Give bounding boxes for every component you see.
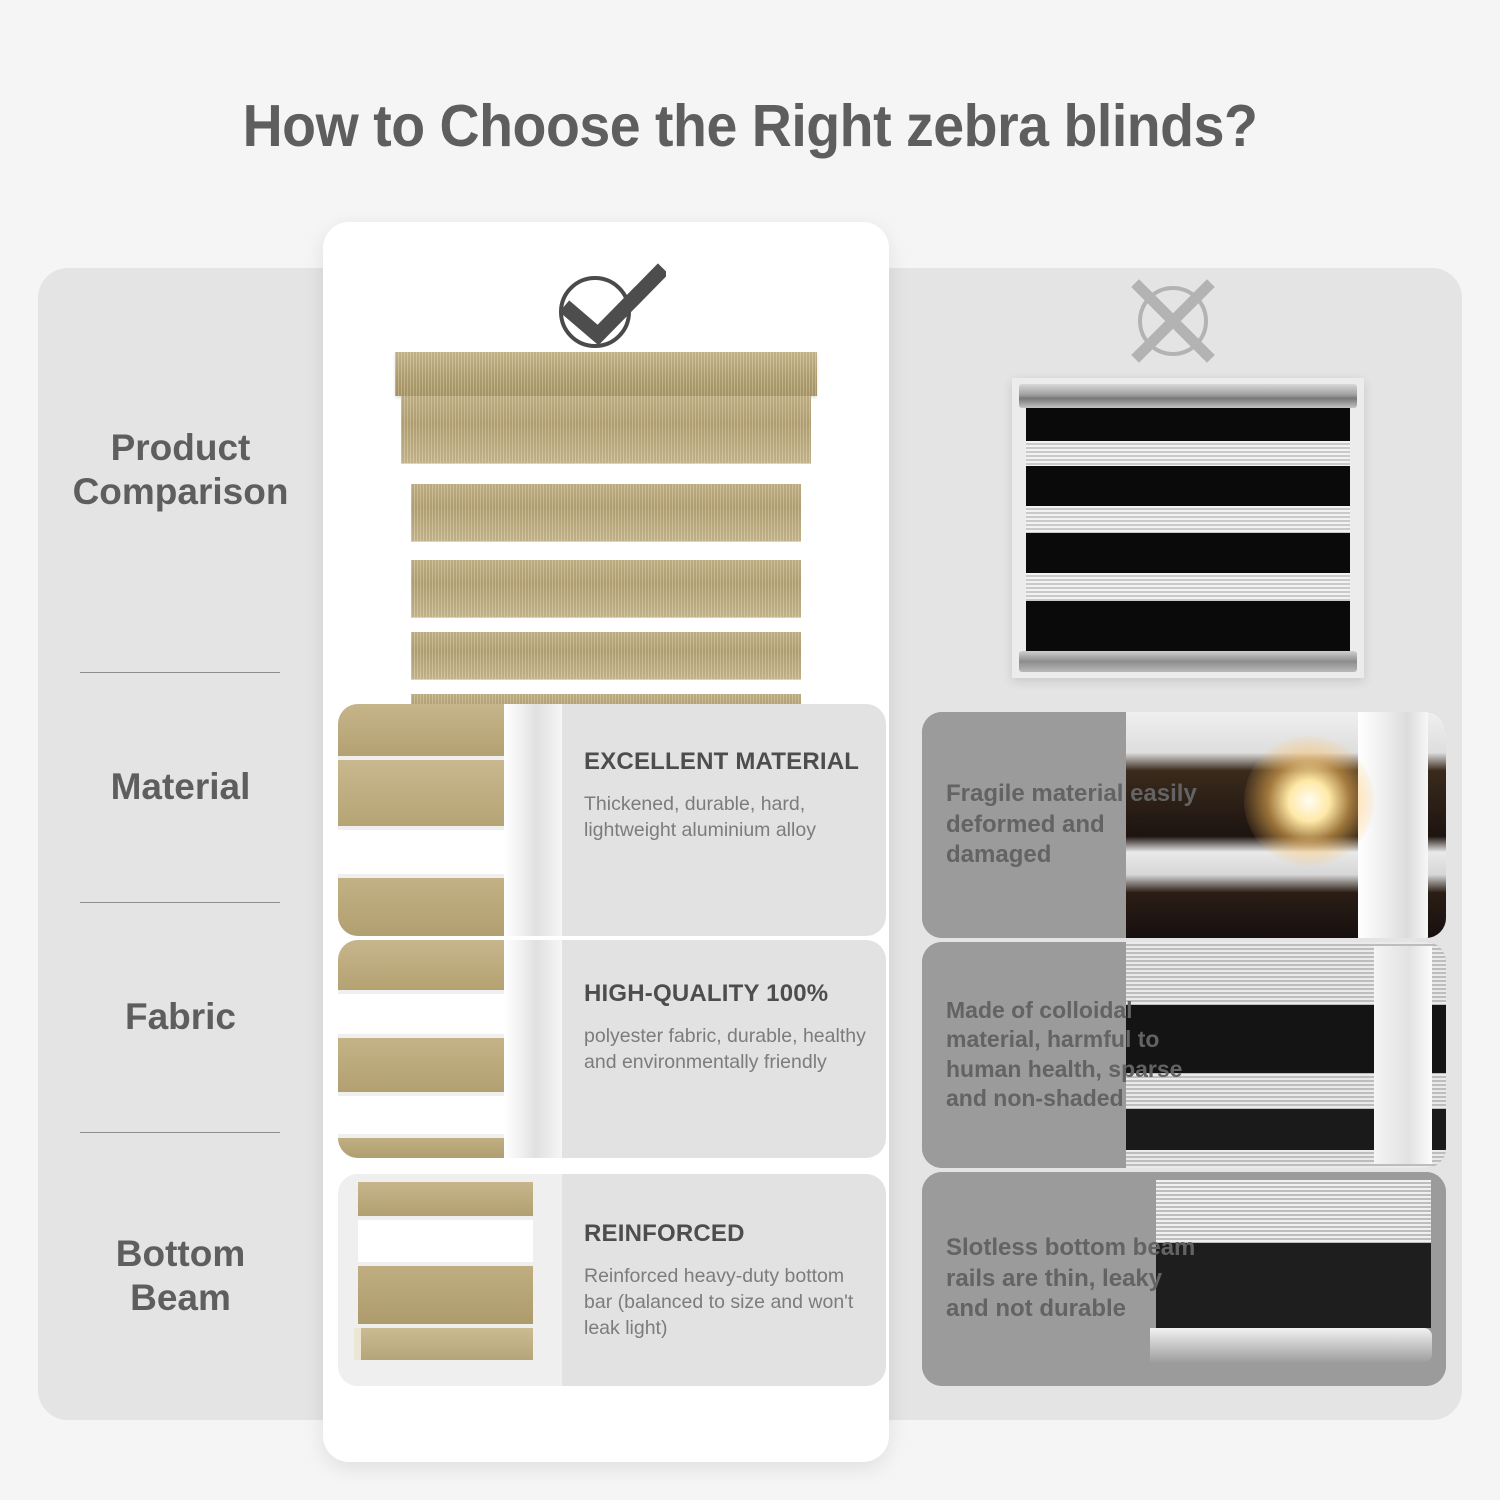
blind-band — [338, 1138, 517, 1158]
feature-image-material — [338, 704, 562, 936]
rail-item-fabric: Fabric — [38, 902, 323, 1132]
rail-label-material: Material — [111, 765, 251, 809]
blind-slat — [411, 560, 801, 618]
sheer-band — [1026, 441, 1350, 466]
feature-text-material: EXCELLENT MATERIAL Thickened, durable, h… — [562, 704, 886, 936]
window-frame — [504, 940, 562, 1158]
blind-band — [358, 1182, 533, 1216]
feature-image-bottom-beam — [338, 1174, 562, 1386]
feature-card-bottom-beam: REINFORCED Reinforced heavy-duty bottom … — [338, 1174, 886, 1386]
bad-card-material: Fragile material easily deformed and dam… — [922, 712, 1446, 938]
feature-text-fabric: HIGH-QUALITY 100% polyester fabric, dura… — [562, 940, 886, 1158]
feature-card-material: EXCELLENT MATERIAL Thickened, durable, h… — [338, 704, 886, 936]
category-rail: Product Comparison Material Fabric Botto… — [38, 268, 323, 1420]
blind-band — [338, 760, 517, 826]
window-frame — [1374, 946, 1432, 1164]
photo-backdrop — [338, 940, 562, 1158]
sheer-band — [338, 830, 517, 874]
sheer-band — [338, 994, 517, 1034]
blind-body — [1026, 407, 1350, 656]
bad-body-text: Fragile material easily deformed and dam… — [946, 779, 1206, 871]
feature-body: Thickened, durable, hard, lightweight al… — [584, 791, 866, 843]
rail-item-product-comparison: Product Comparison — [38, 268, 323, 672]
bad-card-bottom-beam: Slotless bottom beam rails are thin, lea… — [922, 1172, 1446, 1386]
sheer-band — [358, 1220, 533, 1262]
feature-heading: EXCELLENT MATERIAL — [584, 748, 866, 776]
bad-hero-image — [1012, 378, 1364, 678]
bottom-bar — [354, 1328, 533, 1360]
sheer-band — [1026, 506, 1350, 533]
rail-item-bottom-beam: Bottom Beam — [38, 1132, 323, 1420]
photo-backdrop — [338, 1174, 562, 1386]
blind-band — [338, 940, 517, 990]
check-circle-icon — [546, 262, 666, 354]
aluminium-bottom-rail — [1019, 651, 1357, 672]
blind-band — [338, 878, 517, 936]
bad-body-text: Made of colloidal material, harmful to h… — [946, 996, 1206, 1114]
rail-label-line1: Bottom — [116, 1232, 245, 1276]
rail-label-fabric: Fabric — [125, 995, 236, 1039]
x-circle-icon — [1114, 276, 1232, 366]
good-hero-image — [401, 352, 811, 697]
blind-slat — [411, 632, 801, 680]
feature-card-fabric: HIGH-QUALITY 100% polyester fabric, dura… — [338, 940, 886, 1158]
sheer-band — [338, 1096, 517, 1134]
blind-slat — [401, 396, 811, 464]
window-frame — [504, 704, 562, 936]
blind-band — [358, 1266, 533, 1324]
feature-image-fabric — [338, 940, 562, 1158]
rail-label-line2: Comparison — [73, 470, 289, 514]
rail-item-material: Material — [38, 672, 323, 902]
photo-backdrop — [338, 704, 562, 936]
sheer-band — [1026, 573, 1350, 600]
thin-bottom-rail — [1150, 1328, 1432, 1362]
aluminium-headrail — [1019, 384, 1357, 408]
bad-body-text: Slotless bottom beam rails are thin, lea… — [946, 1233, 1206, 1325]
blind-band — [338, 1038, 517, 1092]
blind-band — [338, 704, 517, 756]
rail-label-line1: Product — [73, 426, 289, 470]
rail-label-line2: Beam — [116, 1276, 245, 1320]
feature-heading: HIGH-QUALITY 100% — [584, 980, 866, 1008]
sun-flare — [1244, 736, 1374, 866]
feature-heading: REINFORCED — [584, 1220, 866, 1248]
bad-hero-frame — [1012, 378, 1364, 678]
feature-text-bottom-beam: REINFORCED Reinforced heavy-duty bottom … — [562, 1174, 886, 1386]
headrail — [395, 352, 817, 396]
bad-card-fabric: Made of colloidal material, harmful to h… — [922, 942, 1446, 1168]
feature-body: Reinforced heavy-duty bottom bar (balanc… — [584, 1263, 866, 1341]
infographic-root: How to Choose the Right zebra blinds? Pr… — [0, 0, 1500, 1500]
feature-body: polyester fabric, durable, healthy and e… — [584, 1023, 866, 1075]
blind-slat — [411, 484, 801, 542]
page-title: How to Choose the Right zebra blinds? — [45, 92, 1455, 160]
